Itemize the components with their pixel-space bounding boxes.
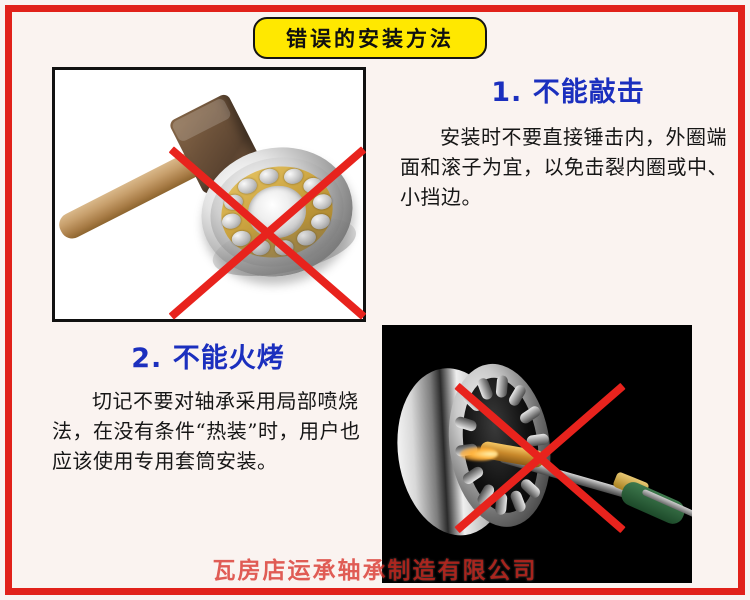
- section-2-heading: 2. 不能火烤: [52, 344, 364, 374]
- bearing-roller: [461, 465, 485, 486]
- section-1-body-text: 安装时不要直接锤击内，外圈端面和滚子为宜，以免击裂内圈或中、小挡边。: [400, 125, 728, 210]
- poster-root: 错误的安装方法 1. 不能敲击 安装时不要直接锤击内，外圈端面和滚子为宜，以免击…: [0, 0, 750, 600]
- bearing-roller: [507, 383, 528, 408]
- bearing-roller: [311, 193, 333, 212]
- section-2-body-text: 切记不要对轴承采用局部喷烧法，在没有条件“热装”时，用户也应该使用专用套筒安装。: [52, 389, 360, 474]
- bearing-roller: [518, 404, 542, 425]
- bearing-roller: [495, 375, 508, 398]
- hammer-and-bearing-photo: [52, 67, 366, 322]
- bearing-roller: [282, 167, 304, 186]
- section-1-body: 安装时不要直接锤击内，外圈端面和滚子为宜，以免击裂内圈或中、小挡边。: [400, 122, 736, 213]
- section-1: 1. 不能敲击 安装时不要直接锤击内，外圈端面和滚子为宜，以免击裂内圈或中、小挡…: [400, 78, 736, 213]
- bearing-roller: [495, 493, 508, 516]
- bearing-roller: [476, 482, 497, 507]
- bearing-roller: [237, 176, 259, 195]
- section-1-heading: 1. 不能敲击: [400, 78, 736, 108]
- section-2-body: 切记不要对轴承采用局部喷烧法，在没有条件“热装”时，用户也应该使用专用套筒安装。: [52, 386, 364, 477]
- banner-title-text: 错误的安装方法: [286, 28, 454, 49]
- bearing-roller: [476, 376, 494, 400]
- bearing-roller: [258, 167, 280, 186]
- bearing-roller: [221, 212, 243, 231]
- bearing-roller: [509, 490, 527, 514]
- torch-and-bearing-photo: [382, 325, 692, 583]
- flame-icon: [460, 447, 498, 461]
- title-banner: 错误的安装方法: [253, 17, 487, 59]
- bearing-roller: [301, 176, 323, 195]
- photo1-scene: [55, 70, 363, 319]
- bearing-roller: [223, 193, 245, 212]
- bearing-roller: [454, 415, 478, 432]
- section-2: 2. 不能火烤 切记不要对轴承采用局部喷烧法，在没有条件“热装”时，用户也应该使…: [52, 344, 364, 477]
